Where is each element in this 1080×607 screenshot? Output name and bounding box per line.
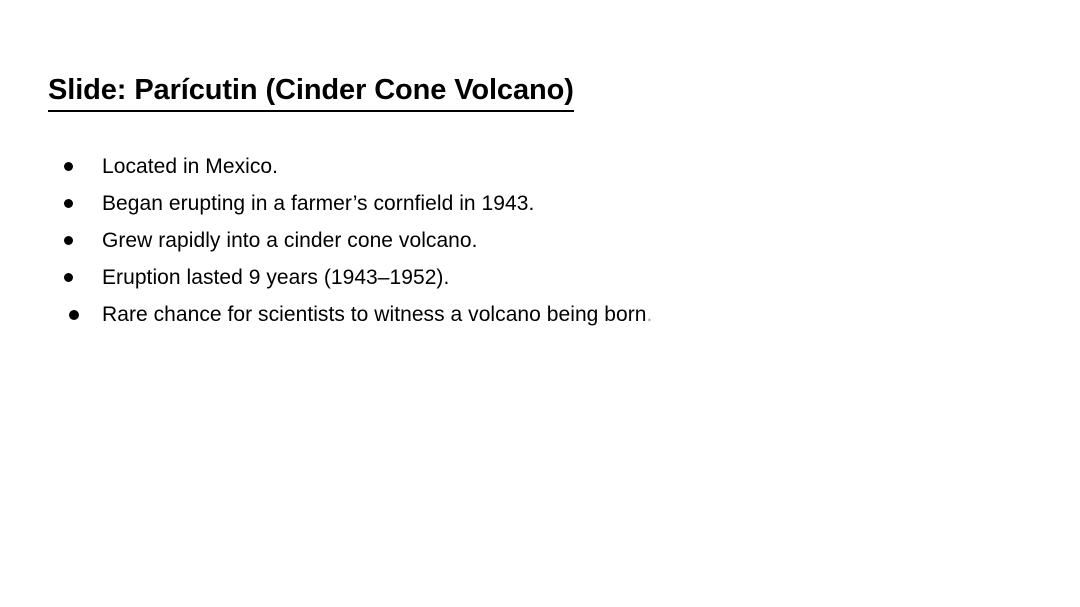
bullet-point-icon (64, 236, 73, 245)
list-item-label: Located in Mexico. (102, 152, 278, 182)
list-item: Eruption lasted 9 years (1943–1952). (0, 263, 1080, 300)
page-title: Slide: Parícutin (Cinder Cone Volcano) (48, 74, 574, 112)
page-title-text: Slide: Parícutin (Cinder Cone Volcano) (48, 74, 574, 112)
bullet-point-icon (64, 162, 73, 171)
bullet-point-icon (69, 310, 79, 320)
list-item-label: Began erupting in a farmer’s cornfield i… (102, 189, 534, 219)
trailing-period: . (647, 303, 653, 326)
list-item-label-wrapper: Rare chance for scientists to witness a … (102, 300, 652, 330)
bullet-list: Located in Mexico. Began erupting in a f… (0, 152, 1080, 337)
list-item: Rare chance for scientists to witness a … (0, 300, 1080, 337)
bullet-point-icon (64, 199, 73, 208)
list-item: Located in Mexico. (0, 152, 1080, 189)
list-item: Began erupting in a farmer’s cornfield i… (0, 189, 1080, 226)
list-item-label: Rare chance for scientists to witness a … (102, 303, 647, 326)
bullet-point-icon (64, 273, 73, 282)
list-item-label: Grew rapidly into a cinder cone volcano. (102, 226, 478, 256)
list-item: Grew rapidly into a cinder cone volcano. (0, 226, 1080, 263)
list-item-label: Eruption lasted 9 years (1943–1952). (102, 263, 449, 293)
slide-canvas: Slide: Parícutin (Cinder Cone Volcano) L… (0, 0, 1080, 607)
